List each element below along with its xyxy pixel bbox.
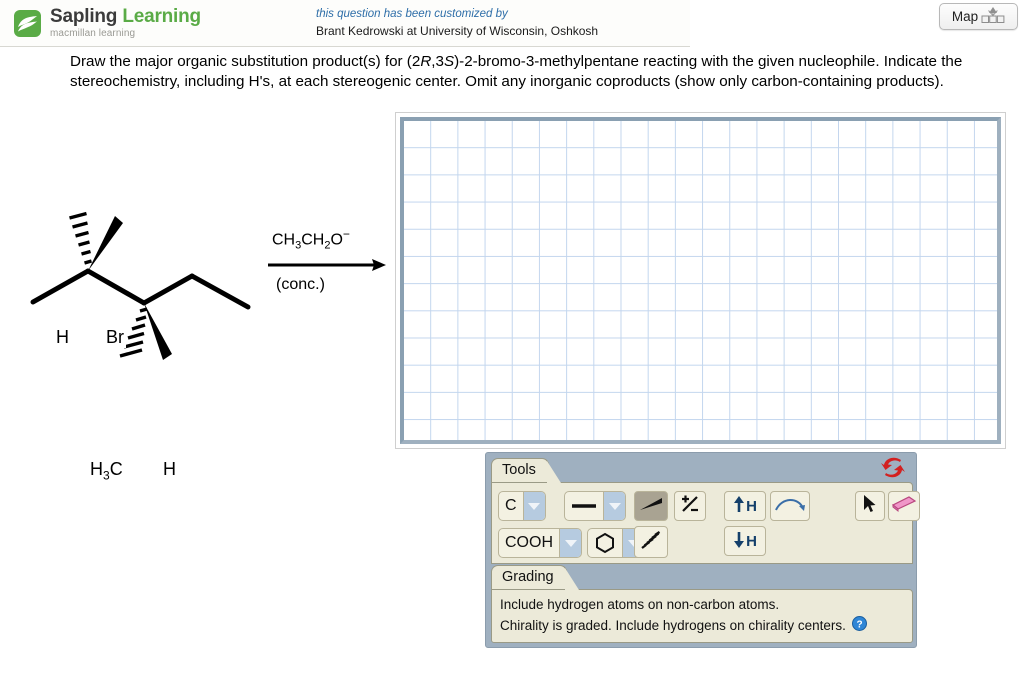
sapling-logo: Sapling Learning macmillan learning bbox=[0, 7, 300, 39]
reagent-charge: − bbox=[343, 227, 350, 241]
element-cooh-label: COOH bbox=[499, 529, 559, 557]
help-question-icon[interactable]: ? bbox=[852, 616, 867, 638]
bond-wedge-tool[interactable] bbox=[634, 491, 668, 521]
logo-subtitle: macmillan learning bbox=[50, 29, 201, 39]
hexagon-icon bbox=[588, 529, 622, 557]
reaction-arrow-icon bbox=[268, 255, 388, 275]
element-cooh-dropdown[interactable]: COOH bbox=[498, 528, 582, 558]
logo-name-primary: Sapling bbox=[50, 6, 117, 27]
solid-wedge-icon bbox=[638, 495, 664, 518]
reagent-ch-1: CH bbox=[272, 231, 295, 248]
chevron-down-icon[interactable] bbox=[603, 492, 625, 520]
grading-line-1: Include hydrogen atoms on non-carbon ato… bbox=[500, 595, 904, 616]
question-text-1: Draw the major organic substitution prod… bbox=[70, 53, 420, 70]
label-h3c: H3C bbox=[88, 459, 125, 483]
tools-body: C COOH bbox=[491, 482, 913, 564]
molecule-drawing-canvas[interactable] bbox=[404, 121, 997, 440]
sitemap-icon bbox=[981, 7, 1005, 27]
select-cursor-tool[interactable] bbox=[855, 491, 885, 521]
reagent-ch-2: CH bbox=[301, 231, 324, 248]
reagent-below-arrow: (conc.) bbox=[276, 276, 325, 294]
reaction-scheme: H Br H3C H CH3CH2O− (conc.) bbox=[0, 150, 400, 370]
sapling-leaf-icon bbox=[14, 10, 41, 37]
bond-line-icon bbox=[565, 492, 603, 520]
element-c-label: C bbox=[499, 492, 523, 520]
eraser-tool[interactable] bbox=[888, 491, 920, 521]
question-text-2: ,3 bbox=[431, 53, 444, 70]
question-italic-s: S bbox=[444, 53, 454, 70]
plus-minus-icon bbox=[679, 494, 701, 519]
tab-tools[interactable]: Tools bbox=[491, 458, 549, 482]
question-italic-r: R bbox=[420, 53, 431, 70]
tools-panel: Tools C COOH bbox=[485, 452, 917, 648]
label-br: Br bbox=[104, 327, 126, 348]
add-hydrogen-label: H bbox=[746, 498, 757, 515]
grading-line-2: Chirality is graded. Include hydrogens o… bbox=[500, 616, 846, 637]
reagent-above-arrow: CH3CH2O− bbox=[272, 227, 350, 252]
bond-single-dropdown[interactable] bbox=[564, 491, 626, 521]
app-header: Sapling Learning macmillan learning this… bbox=[0, 0, 690, 47]
h-solid-wedge-lower bbox=[144, 303, 172, 360]
tab-grading[interactable]: Grading bbox=[491, 565, 567, 589]
add-hydrogen-button[interactable]: H bbox=[724, 491, 766, 521]
arrow-down-icon bbox=[733, 531, 745, 552]
br-solid-wedge bbox=[88, 216, 123, 271]
arrow-up-icon bbox=[733, 496, 745, 517]
customization-line2: Brant Kedrowski at University of Wiscons… bbox=[316, 23, 598, 39]
hash-wedge-icon bbox=[639, 529, 663, 556]
logo-name-secondary: Learning bbox=[122, 6, 201, 27]
h-hash-wedge bbox=[70, 214, 92, 264]
curved-arrow-icon bbox=[774, 495, 806, 518]
reset-refresh-icon[interactable] bbox=[880, 456, 906, 480]
cursor-icon bbox=[862, 494, 878, 519]
remove-hydrogen-label: H bbox=[746, 533, 757, 550]
svg-text:?: ? bbox=[856, 619, 862, 630]
label-h-lower: H bbox=[161, 459, 178, 480]
customization-note: this question has been customized by Bra… bbox=[316, 7, 598, 40]
curved-arrow-tool[interactable] bbox=[770, 491, 810, 521]
charge-tool[interactable] bbox=[674, 491, 706, 521]
customization-line1: this question has been customized by bbox=[316, 7, 598, 23]
eraser-icon bbox=[891, 495, 917, 518]
grading-body: Include hydrogen atoms on non-carbon ato… bbox=[491, 589, 913, 643]
drawing-canvas-frame[interactable] bbox=[400, 117, 1001, 444]
element-c-dropdown[interactable]: C bbox=[498, 491, 546, 521]
remove-hydrogen-button[interactable]: H bbox=[724, 526, 766, 556]
reagent-o: O bbox=[330, 231, 342, 248]
chevron-down-icon[interactable] bbox=[523, 492, 545, 520]
question-prompt: Draw the major organic substitution prod… bbox=[70, 52, 980, 92]
drawing-canvas-container[interactable] bbox=[395, 112, 1006, 449]
label-h-upper: H bbox=[54, 327, 71, 348]
map-button-label: Map bbox=[952, 9, 978, 24]
chevron-down-icon[interactable] bbox=[559, 529, 581, 557]
map-button[interactable]: Map bbox=[939, 3, 1018, 30]
bond-hash-tool[interactable] bbox=[634, 526, 668, 558]
